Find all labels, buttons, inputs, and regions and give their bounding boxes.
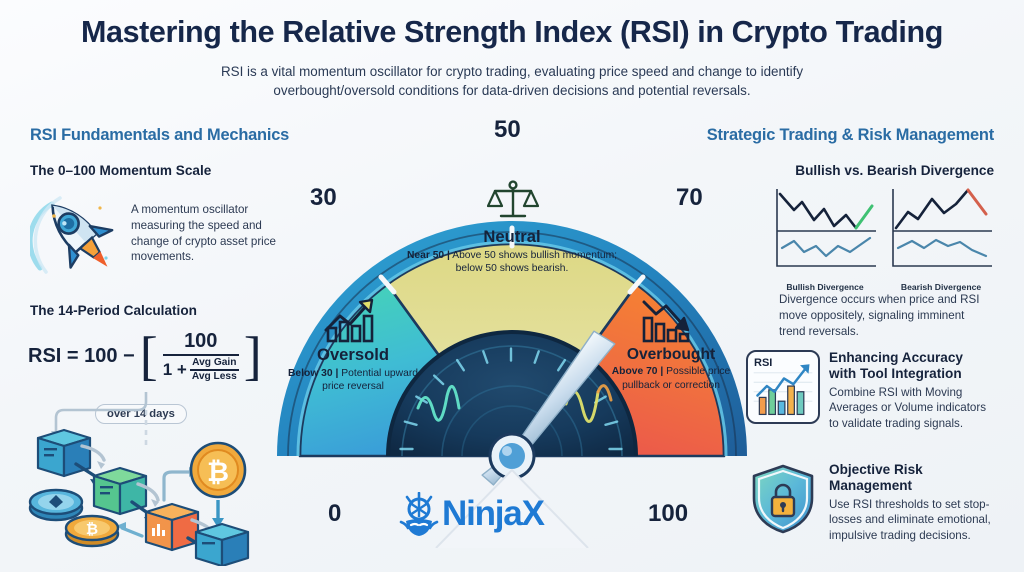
- gauge-label-100: 100: [648, 500, 688, 528]
- right-block-1-title: Bullish vs. Bearish Divergence: [764, 163, 994, 179]
- formula-bracket-close: ]: [244, 337, 262, 376]
- svg-text:₿: ₿: [207, 457, 229, 487]
- zone-neutral-title: Neutral: [404, 228, 620, 247]
- right-block-2-body: Combine RSI with Moving Averages or Volu…: [829, 385, 992, 432]
- zone-overbought-title: Overbought: [606, 346, 736, 363]
- gauge-zone-neutral: Neutral Near 50 | Above 50 shows bullish…: [404, 228, 620, 275]
- formula-inner-fraction: Avg Gain Avg Less: [190, 357, 239, 383]
- ninja-mask-icon: [398, 492, 440, 536]
- left-block-2-title: The 14-Period Calculation: [30, 303, 197, 319]
- formula-numerator: 100: [176, 330, 225, 354]
- rsi-formula: RSI = 100 − [ 100 1 + Avg Gain Avg Less …: [28, 330, 280, 383]
- uptrend-bar-chart-icon: [322, 296, 384, 344]
- formula-lhs: RSI = 100 −: [28, 345, 135, 368]
- zone-oversold-threshold: Below 30 |: [288, 368, 338, 379]
- formula-bracket-open: [: [140, 337, 158, 376]
- gauge-label-0: 0: [328, 500, 341, 528]
- right-block-2: RSI Enhancing Accuracy with Tool Integra…: [746, 350, 994, 432]
- infographic-canvas: Mastering the Relative Strength Index (R…: [0, 0, 1024, 572]
- zone-neutral-threshold: Near 50 |: [407, 250, 450, 261]
- page-subtitle: RSI is a vital momentum oscillator for c…: [192, 62, 832, 100]
- svg-text:₿: ₿: [86, 521, 98, 538]
- right-column-heading: Strategic Trading & Risk Management: [707, 126, 994, 145]
- left-column-heading: RSI Fundamentals and Mechanics: [30, 126, 289, 145]
- blockchain-flow-icon: ₿: [6, 388, 294, 566]
- brand-name: NinjaX: [442, 494, 544, 534]
- formula-denominator: 1 + Avg Gain Avg Less: [163, 356, 239, 383]
- gauge-label-30: 30: [310, 184, 337, 212]
- gauge-label-50: 50: [494, 116, 521, 144]
- formula-avg-less: Avg Less: [190, 371, 239, 383]
- rocket-icon: [30, 188, 122, 280]
- right-block-2-text: Enhancing Accuracy with Tool Integration…: [829, 350, 992, 432]
- zone-oversold-title: Oversold: [288, 346, 418, 365]
- formula-fraction: 100 1 + Avg Gain Avg Less: [163, 330, 239, 383]
- downtrend-bar-chart-icon: [638, 296, 700, 344]
- right-block-3: Objective Risk Management Use RSI thresh…: [746, 462, 994, 544]
- gauge-zone-oversold: Oversold Below 30 | Potential upward pri…: [288, 346, 418, 393]
- rsi-gauge: 50 30 70 0 100 Neutral Near 50 | Above 5…: [276, 108, 748, 548]
- bearish-divergence-chart: Bearish Divergence: [888, 186, 994, 278]
- right-block-3-title: Objective Risk Management: [829, 462, 992, 495]
- right-block-3-text: Objective Risk Management Use RSI thresh…: [829, 462, 992, 544]
- bearish-divergence-caption: Bearish Divergence: [888, 282, 994, 292]
- left-block-1-body: A momentum oscillator measuring the spee…: [131, 188, 279, 280]
- right-block-1-body: Divergence occurs when price and RSI mov…: [779, 292, 994, 339]
- divergence-charts: Bullish Divergence Bearish Divergence: [772, 186, 994, 278]
- shield-lock-icon: [746, 462, 820, 536]
- zone-oversold-desc: Below 30 | Potential upward price revers…: [288, 367, 418, 394]
- zone-overbought-threshold: Above 70 |: [612, 366, 664, 377]
- zone-overbought-desc: Above 70 | Possible price pullback or co…: [606, 365, 736, 392]
- right-block-3-body: Use RSI thresholds to set stop-losses an…: [829, 497, 992, 544]
- left-block-1-title: The 0–100 Momentum Scale: [30, 163, 211, 179]
- brand-logo: NinjaX: [398, 492, 544, 536]
- rsi-icon-label: RSI: [754, 357, 772, 369]
- rsi-chart-icon: RSI: [746, 350, 820, 424]
- formula-denominator-lead: 1 +: [163, 360, 187, 380]
- zone-neutral-text: Above 50 shows bullish momentum; below 5…: [452, 250, 617, 274]
- gauge-zone-overbought: Overbought Above 70 | Possible price pul…: [606, 346, 736, 392]
- bullish-divergence-caption: Bullish Divergence: [772, 282, 878, 292]
- right-block-2-title: Enhancing Accuracy with Tool Integration: [829, 350, 992, 383]
- page-title: Mastering the Relative Strength Index (R…: [0, 16, 1024, 50]
- bullish-divergence-chart: Bullish Divergence: [772, 186, 878, 278]
- zone-neutral-desc: Near 50 | Above 50 shows bullish momentu…: [404, 249, 620, 276]
- formula-avg-gain: Avg Gain: [190, 357, 238, 369]
- gauge-label-70: 70: [676, 184, 703, 212]
- balance-scale-icon: [487, 180, 539, 224]
- left-block-1: A momentum oscillator measuring the spee…: [30, 188, 280, 280]
